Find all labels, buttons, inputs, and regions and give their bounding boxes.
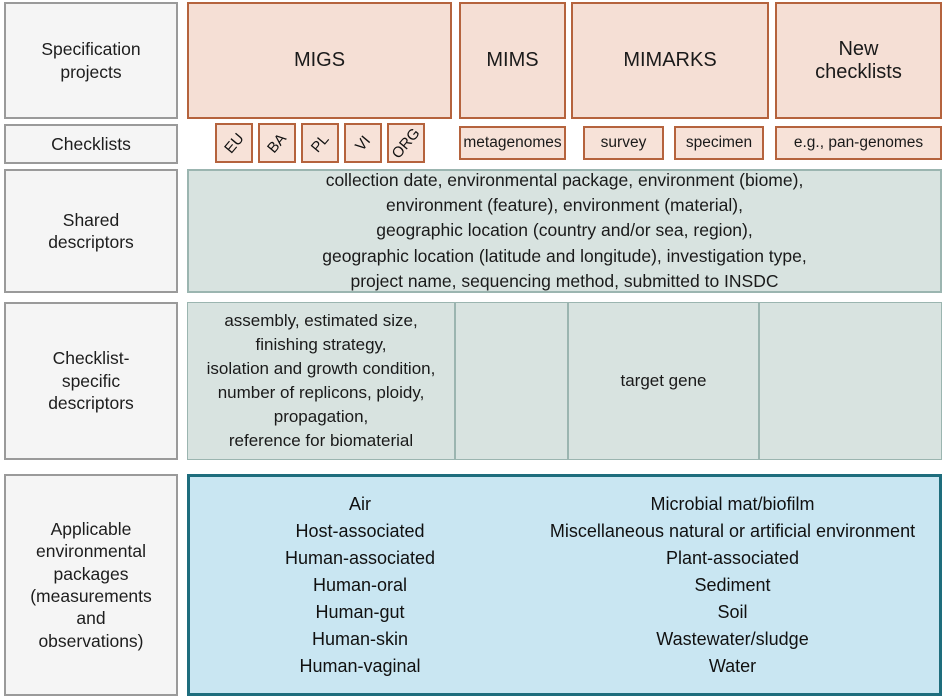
specification-project-mims-label: MIMS [486,49,538,72]
row-label-checklist-specific-descriptors: Checklist-specificdescriptors [4,302,178,460]
specification-project-mims[interactable]: MIMS [459,2,566,119]
checklist-survey[interactable]: survey [583,126,664,160]
environmental-packages-column-left: Air Host-associated Human-associated Hum… [190,491,530,680]
shared-descriptor-line: geographic location (country and/or sea,… [376,218,752,243]
environmental-package-item: Plant-associated [530,545,935,572]
checklist-tag-pl[interactable]: PL [301,123,339,163]
checklist-specific-line: target gene [620,369,706,393]
checklist-metagenomes-label: metagenomes [463,134,561,152]
checklist-specimen[interactable]: specimen [674,126,764,160]
checklist-pan-genomes-label: e.g., pan-genomes [794,134,923,152]
environmental-package-item: Soil [530,599,935,626]
checklist-specific-new [759,302,942,460]
specification-project-mimarks-label: MIMARKS [623,49,716,72]
environmental-package-item: Human-oral [190,572,530,599]
checklist-tag-org-label: ORG [389,124,424,161]
checklist-specific-line: propagation, [274,405,369,429]
checklist-survey-label: survey [601,134,647,152]
specification-project-new-checklists[interactable]: Newchecklists [775,2,942,119]
environmental-package-item: Human-skin [190,626,530,653]
checklist-tag-eu-label: EU [221,130,247,157]
environmental-package-item: Miscellaneous natural or artificial envi… [530,518,935,545]
shared-descriptor-line: collection date, environmental package, … [326,168,804,193]
checklist-pan-genomes[interactable]: e.g., pan-genomes [775,126,942,160]
environmental-package-item: Human-associated [190,545,530,572]
checklist-tag-vi[interactable]: VI [344,123,382,163]
environmental-package-item: Microbial mat/biofilm [530,491,935,518]
checklist-metagenomes[interactable]: metagenomes [459,126,566,160]
shared-descriptors-box: collection date, environmental package, … [187,169,942,293]
row-label-applicable-environmental-packages: Applicableenvironmentalpackages(measurem… [4,474,178,696]
row-label-applicable-environmental-packages-text: Applicableenvironmentalpackages(measurem… [30,518,152,652]
row-label-shared-descriptors-text: Shareddescriptors [48,209,134,254]
shared-descriptor-line: project name, sequencing method, submitt… [351,269,779,294]
checklist-tag-ba-label: BA [264,130,290,156]
environmental-package-item: Sediment [530,572,935,599]
row-label-specification-projects-text: Specificationprojects [41,38,140,83]
checklist-tag-org[interactable]: ORG [387,123,425,163]
row-label-checklist-specific-descriptors-text: Checklist-specificdescriptors [48,347,134,414]
checklist-specific-mims [455,302,568,460]
shared-descriptor-line: geographic location (latitude and longit… [322,244,807,269]
environmental-packages-box: Air Host-associated Human-associated Hum… [187,474,942,696]
environmental-package-item: Water [530,653,935,680]
checklist-tag-eu[interactable]: EU [215,123,253,163]
shared-descriptor-line: environment (feature), environment (mate… [386,193,743,218]
checklist-specific-line: isolation and growth condition, [207,357,436,381]
environmental-package-item: Wastewater/sludge [530,626,935,653]
environmental-package-item: Host-associated [190,518,530,545]
environmental-package-item: Human-gut [190,599,530,626]
checklist-specific-mimarks: target gene [568,302,759,460]
checklist-tag-ba[interactable]: BA [258,123,296,163]
row-label-shared-descriptors: Shareddescriptors [4,169,178,293]
diagram-canvas: Specificationprojects Checklists Sharedd… [0,0,946,699]
checklist-specific-line: reference for biomaterial [229,429,413,453]
environmental-package-item: Air [190,491,530,518]
row-label-specification-projects: Specificationprojects [4,2,178,119]
checklist-tag-pl-label: PL [308,131,333,156]
specification-project-mimarks[interactable]: MIMARKS [571,2,769,119]
checklist-specific-migs: assembly, estimated size, finishing stra… [187,302,455,460]
specification-project-migs[interactable]: MIGS [187,2,452,119]
specification-project-migs-label: MIGS [294,49,345,72]
specification-project-new-checklists-label: Newchecklists [815,38,902,84]
checklist-specific-line: finishing strategy, [255,333,386,357]
row-label-checklists: Checklists [4,124,178,164]
checklist-specimen-label: specimen [686,134,752,152]
row-label-checklists-text: Checklists [51,133,131,155]
environmental-packages-column-right: Microbial mat/biofilm Miscellaneous natu… [530,491,935,680]
checklist-specific-line: number of replicons, ploidy, [218,381,425,405]
environmental-package-item: Human-vaginal [190,653,530,680]
checklist-specific-line: assembly, estimated size, [224,309,417,333]
checklist-tag-vi-label: VI [352,132,374,154]
